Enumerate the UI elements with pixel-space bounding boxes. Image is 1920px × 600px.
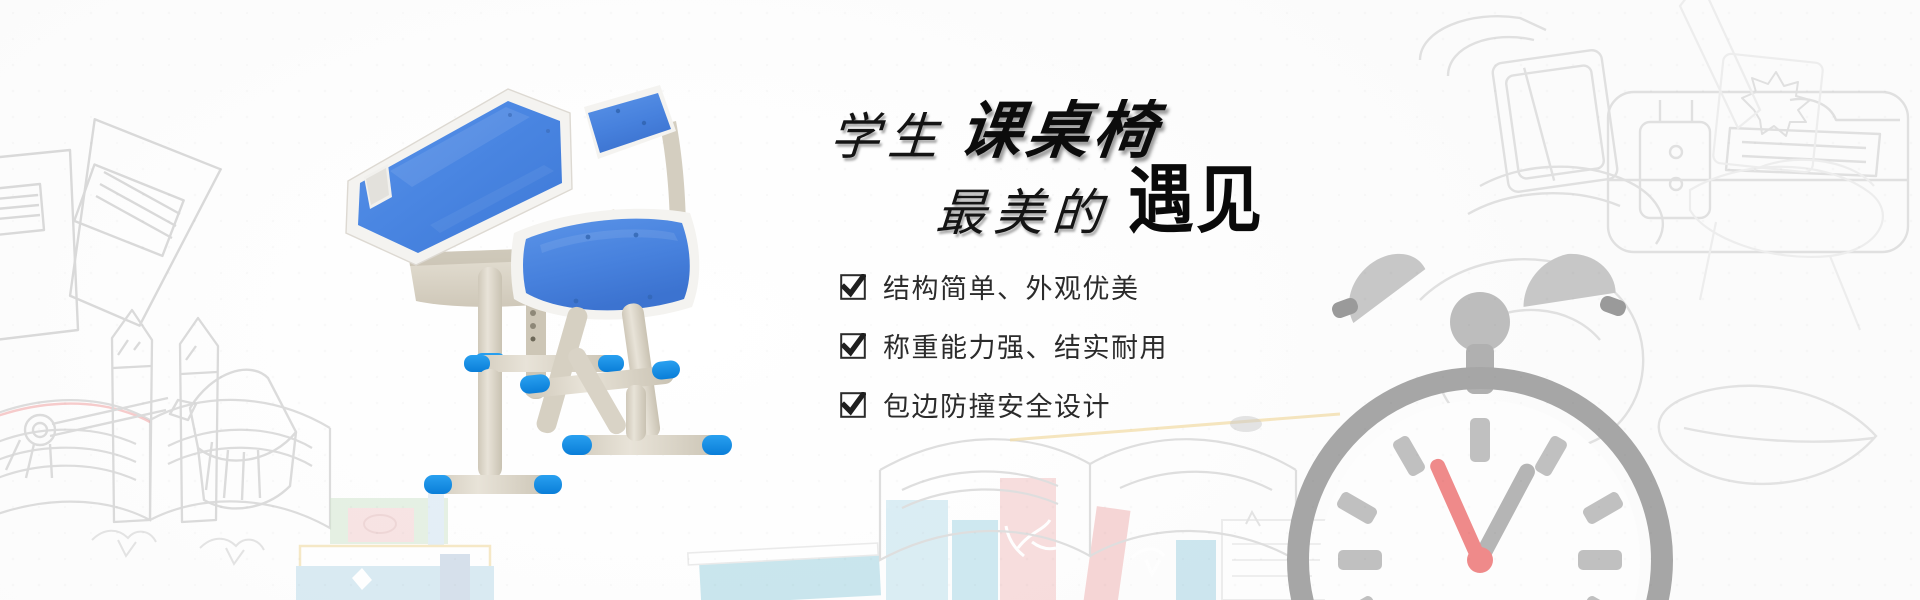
chair-outline-decor <box>1680 0 1883 330</box>
notebook-outline-decor <box>0 107 236 342</box>
checkbox-checked-icon <box>840 274 866 300</box>
headline-script-1: 学生 <box>828 112 947 162</box>
feature-label: 结构简单、外观优美 <box>883 267 1140 306</box>
checkbox-checked-icon <box>840 333 866 359</box>
pencil-outline-decor <box>112 310 218 522</box>
feature-label: 包边防撞安全设计 <box>883 385 1111 424</box>
student-desk-and-chair-photo <box>330 85 800 515</box>
headline-bold-2: 遇见 <box>1128 164 1264 238</box>
headline-line-2: 最美的 遇见 <box>936 172 1264 238</box>
headline-script-2: 最美的 <box>934 188 1111 238</box>
copy-block: 学生 课桌椅 最美的 遇见 结构简单、外观优美 称重能力强、结实耐用 <box>830 92 1710 492</box>
list-item: 结构简单、外观优美 <box>840 267 1168 306</box>
promo-banner: 学生 课桌椅 最美的 遇见 结构简单、外观优美 称重能力强、结实耐用 <box>0 0 1920 600</box>
list-item: 包边防撞安全设计 <box>840 385 1168 424</box>
bird-doodle-decor <box>92 531 264 564</box>
headline-line-1: 学生 课桌椅 <box>830 100 1161 162</box>
feature-label: 称重能力强、结实耐用 <box>883 326 1168 365</box>
headline-emphasis-1: 课桌椅 <box>956 100 1165 162</box>
feature-list: 结构简单、外观优美 称重能力强、结实耐用 包边防撞安全设计 <box>840 267 1168 424</box>
list-item: 称重能力强、结实耐用 <box>840 326 1168 365</box>
checkbox-checked-icon <box>840 392 866 418</box>
open-book-outline-decor <box>0 400 330 530</box>
desk-lamp-outline-decor <box>6 370 296 509</box>
